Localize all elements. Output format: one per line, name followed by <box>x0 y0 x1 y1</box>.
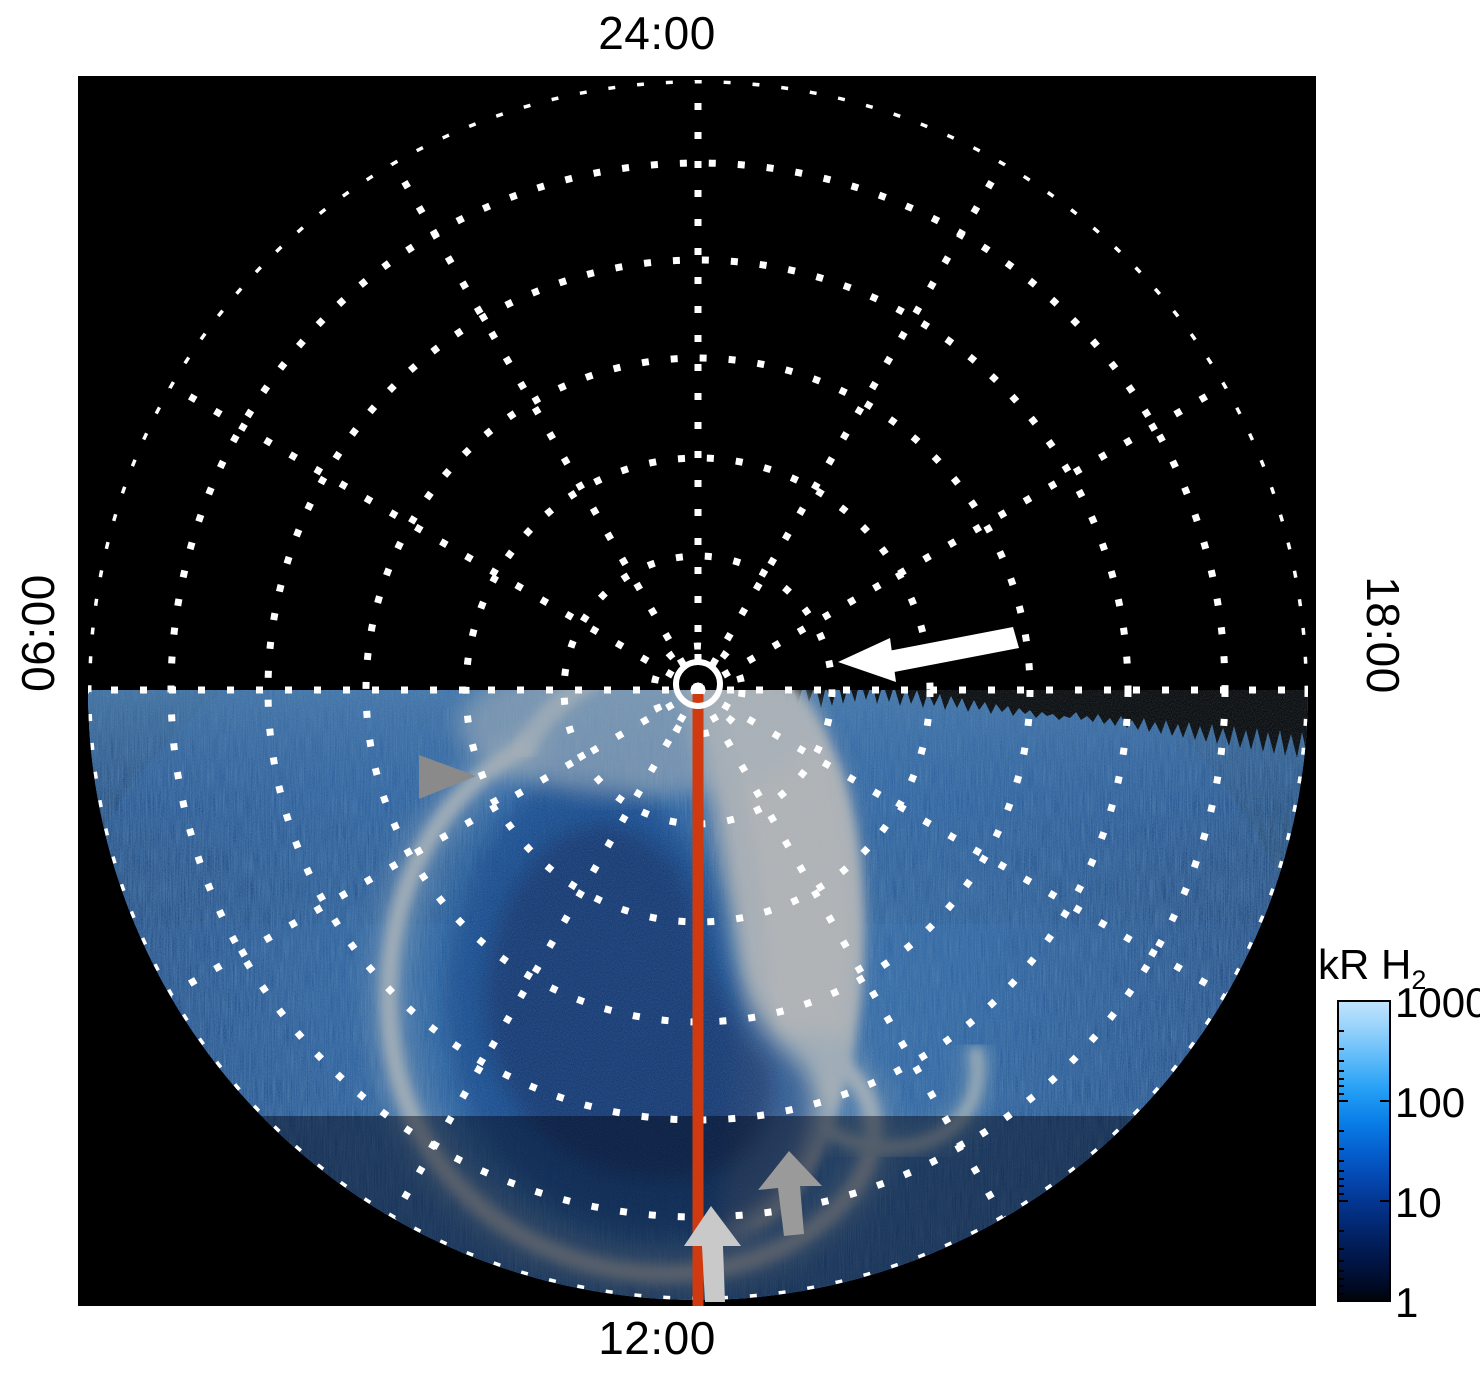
local-time-label-bottom-text: 12:00 <box>598 1315 716 1361</box>
colorbar-minor-tick <box>1337 1260 1344 1262</box>
colorbar-minor-tick <box>1337 1078 1344 1080</box>
local-time-label-left: 06:00 <box>15 533 61 733</box>
colorbar-minor-tick <box>1337 1148 1344 1150</box>
colorbar-minor-tick <box>1337 1130 1344 1132</box>
colorbar-minor-tick <box>1337 1293 1344 1295</box>
colorbar-gradient <box>1337 1000 1391 1302</box>
colorbar-tick-10 <box>1337 1200 1348 1202</box>
polar-projection-canvas <box>78 76 1316 1306</box>
local-time-label-top-text: 24:00 <box>598 10 716 56</box>
colorbar-tick-1000 <box>1337 1000 1348 1002</box>
colorbar-tick-10-right <box>1380 1200 1391 1202</box>
colorbar-minor-tick <box>1337 1248 1344 1250</box>
colorbar-minor-tick <box>1337 1048 1344 1050</box>
local-time-label-bottom: 12:00 <box>0 1315 1480 1361</box>
polar-plot-area <box>78 76 1316 1306</box>
colorbar-label-1: 1 <box>1395 1282 1418 1324</box>
colorbar-tick-1-right <box>1380 1300 1391 1302</box>
local-time-label-top: 24:00 <box>0 10 1480 56</box>
colorbar-minor-tick <box>1337 1230 1344 1232</box>
colorbar-minor-tick <box>1337 1270 1344 1272</box>
colorbar-minor-tick <box>1337 1060 1344 1062</box>
colorbar-minor-tick <box>1337 1070 1344 1072</box>
colorbar-label-1000: 1000 <box>1395 982 1480 1024</box>
colorbar-minor-tick <box>1337 1185 1344 1187</box>
colorbar-minor-tick <box>1337 1030 1344 1032</box>
colorbar-minor-tick <box>1337 1285 1344 1287</box>
colorbar-minor-tick <box>1337 1085 1344 1087</box>
colorbar-tick-1 <box>1337 1300 1348 1302</box>
colorbar-minor-tick <box>1337 1170 1344 1172</box>
colorbar-tick-100 <box>1337 1100 1348 1102</box>
colorbar-label-10: 10 <box>1395 1182 1442 1224</box>
colorbar-minor-tick <box>1337 1193 1344 1195</box>
colorbar-minor-tick <box>1337 1093 1344 1095</box>
colorbar-minor-tick <box>1337 1278 1344 1280</box>
colorbar-tick-1000-right <box>1380 1000 1391 1002</box>
colorbar-minor-tick <box>1337 1160 1344 1162</box>
local-time-label-right: 18:00 <box>1360 535 1406 735</box>
colorbar-tick-100-right <box>1380 1100 1391 1102</box>
figure-root: 24:00 12:00 06:00 18:00 <box>0 0 1480 1384</box>
colorbar: 1000 100 10 1 <box>1337 1000 1391 1302</box>
colorbar-minor-tick <box>1337 1178 1344 1180</box>
colorbar-label-100: 100 <box>1395 1082 1465 1124</box>
